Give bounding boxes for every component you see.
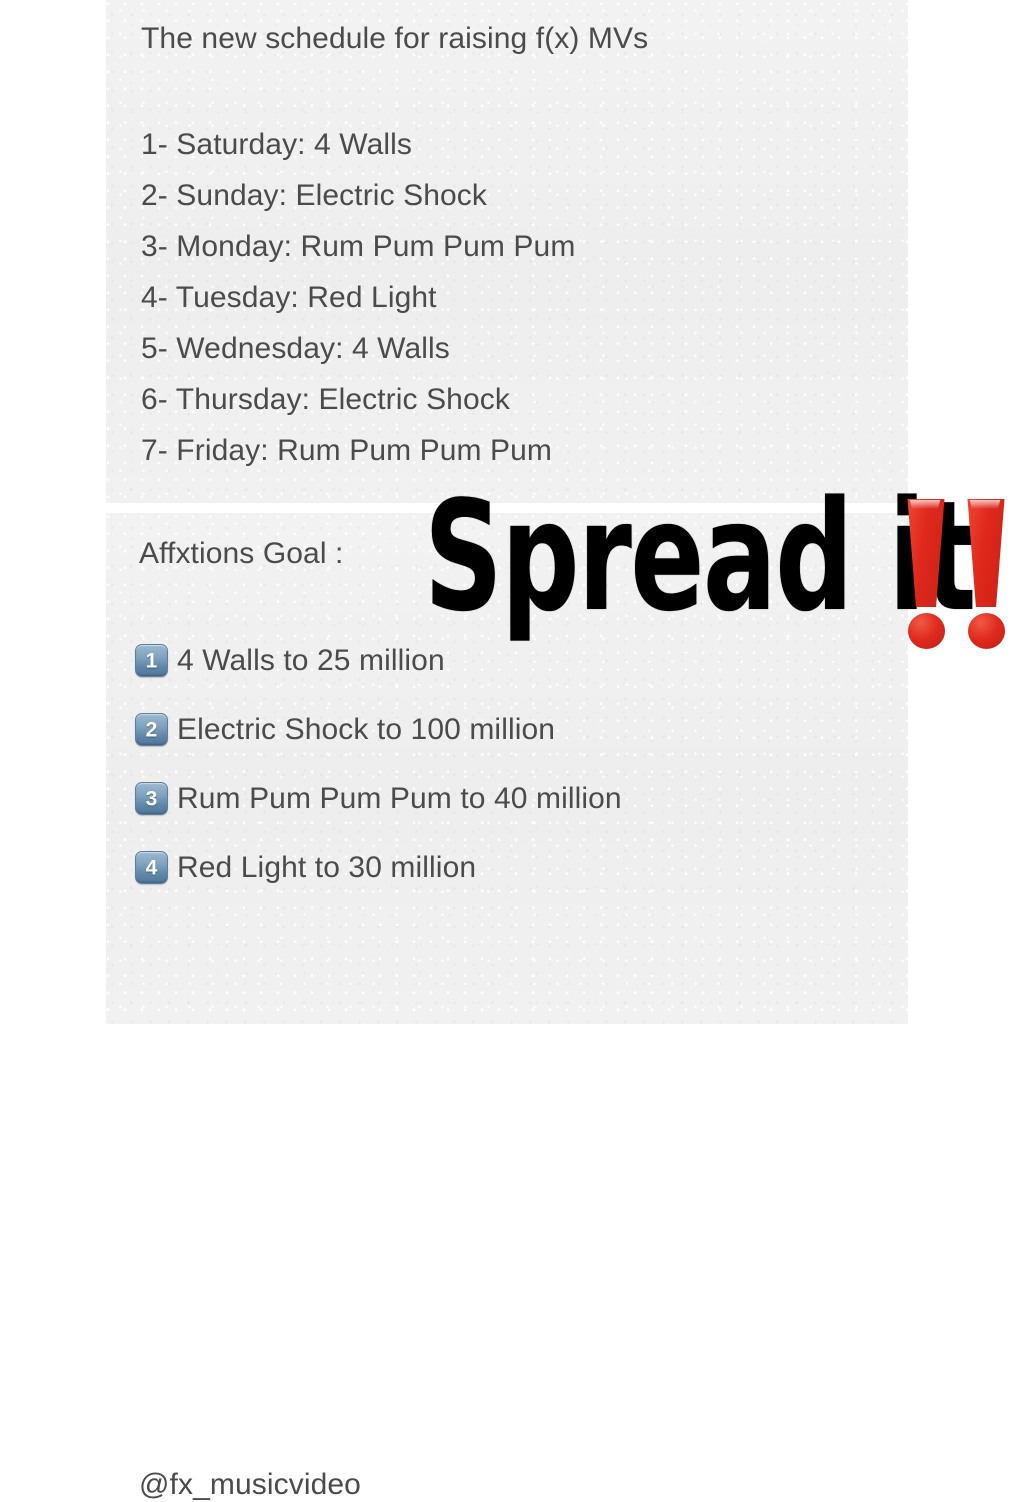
schedule-item: 6- Thursday: Electric Shock — [141, 380, 575, 431]
keycap-digit: 4 — [136, 857, 167, 878]
schedule-item: 2- Sunday: Electric Shock — [141, 176, 575, 227]
goal-label: Electric Shock to 100 million — [177, 713, 555, 747]
goal-label: Rum Pum Pum Pum to 40 million — [177, 782, 622, 816]
goal-item: 3 Rum Pum Pum Pum to 40 million — [135, 764, 622, 833]
account-handle: @fx_musicvideo — [139, 1468, 361, 1502]
schedule-list: 1- Saturday: 4 Walls 2- Sunday: Electric… — [141, 125, 575, 482]
schedule-item: 1- Saturday: 4 Walls — [141, 125, 575, 176]
goal-label: 4 Walls to 25 million — [177, 644, 445, 678]
keycap-digit: 2 — [136, 719, 167, 740]
exclamation-mark-icon — [962, 495, 1010, 655]
exclamation-mark-icon — [902, 495, 950, 655]
goal-label: Red Light to 30 million — [177, 851, 476, 885]
keycap-digit: 1 — [136, 650, 167, 671]
exclamation-bar — [965, 499, 1007, 607]
goal-item: 1 4 Walls to 25 million — [135, 626, 622, 695]
schedule-item: 5- Wednesday: 4 Walls — [141, 329, 575, 380]
schedule-item: 7- Friday: Rum Pum Pum Pum — [141, 431, 575, 482]
keycap-digit: 3 — [136, 788, 167, 809]
schedule-item: 3- Monday: Rum Pum Pum Pum — [141, 227, 575, 278]
exclamation-dot — [908, 613, 945, 649]
schedule-item: 4- Tuesday: Red Light — [141, 278, 575, 329]
exclamation-highlight — [968, 500, 1002, 509]
goal-item: 2 Electric Shock to 100 million — [135, 695, 622, 764]
exclamation-highlight — [908, 500, 942, 509]
keycap-4-icon: 4 — [135, 851, 168, 884]
keycap-2-icon: 2 — [135, 713, 168, 746]
exclamation-dot — [968, 613, 1005, 649]
goals-title: Affxtions Goal : — [139, 537, 343, 571]
keycap-1-icon: 1 — [135, 644, 168, 677]
double-exclamation-mark-icon — [900, 495, 1024, 655]
keycap-3-icon: 3 — [135, 782, 168, 815]
goals-card: Affxtions Goal : 1 4 Walls to 25 million… — [106, 513, 908, 1024]
exclamation-bar — [905, 499, 947, 607]
schedule-card: The new schedule for raising f(x) MVs 1-… — [106, 0, 908, 503]
schedule-title: The new schedule for raising f(x) MVs — [141, 22, 648, 56]
goal-item: 4 Red Light to 30 million — [135, 833, 622, 902]
goals-list: 1 4 Walls to 25 million 2 Electric Shock… — [135, 626, 622, 902]
image-canvas: The new schedule for raising f(x) MVs 1-… — [0, 0, 1024, 1024]
